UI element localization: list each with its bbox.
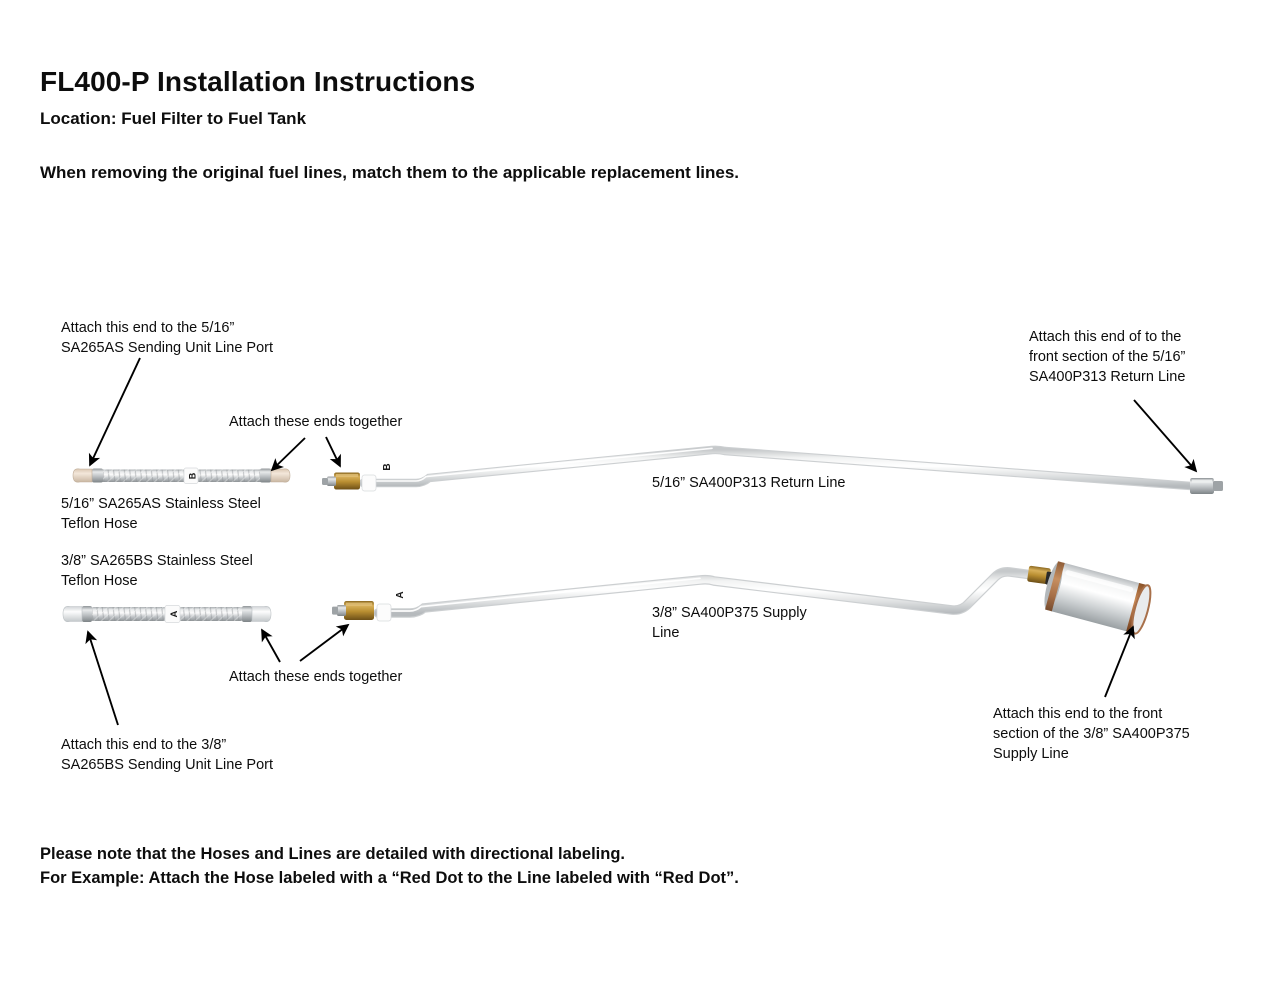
annotation-arrows — [88, 358, 1196, 725]
installation-instruction-sheet: FL400-P Installation Instructions Locati… — [0, 0, 1280, 989]
hose-sa265as-right-fitting — [260, 469, 290, 483]
fuel-filter-canister — [1027, 560, 1154, 635]
hose-sa265as-marker-letter: B — [188, 472, 198, 479]
arrow-top-join-to-hose-end — [272, 438, 305, 470]
arrow-to-hose-sa265as-end — [90, 358, 140, 465]
hose-sa265bs-center-marker: A — [165, 606, 180, 623]
hose-sa265as-center-marker: B — [184, 468, 198, 484]
arrow-bottom-join-to-hose-end — [262, 630, 280, 662]
fuel-filter-body — [1041, 560, 1154, 635]
hose-sa265as: B — [73, 468, 290, 484]
arrow-to-supply-line-front-end — [1105, 627, 1133, 697]
hose-sa265bs-marker-letter: A — [169, 610, 180, 617]
hose-sa265as-braid — [100, 470, 263, 483]
line-sa400p313-right-fitting — [1190, 478, 1223, 494]
arrow-bottom-join-to-line-fitting — [300, 625, 348, 661]
line-sa400p375-marker-letter: A — [395, 591, 406, 598]
arrow-to-hose-sa265bs-end — [88, 632, 118, 725]
line-sa400p313-marker-letter: B — [382, 463, 393, 470]
hose-sa265bs-right-fitting — [242, 606, 271, 622]
line-sa400p313-left-brass-fitting — [322, 473, 360, 490]
hose-sa265as-left-fitting — [73, 469, 103, 483]
hose-sa265bs-left-fitting — [63, 606, 92, 622]
line-sa400p313-return: B — [322, 448, 1223, 494]
arrow-to-return-line-front-end — [1134, 400, 1196, 471]
diagram-artwork: B A — [0, 0, 1280, 989]
arrow-top-join-to-line-fitting — [326, 437, 340, 466]
line-sa400p375-supply: A — [332, 572, 1040, 621]
hose-sa265bs: A — [63, 606, 271, 623]
line-sa400p375-left-brass-fitting — [332, 601, 374, 620]
